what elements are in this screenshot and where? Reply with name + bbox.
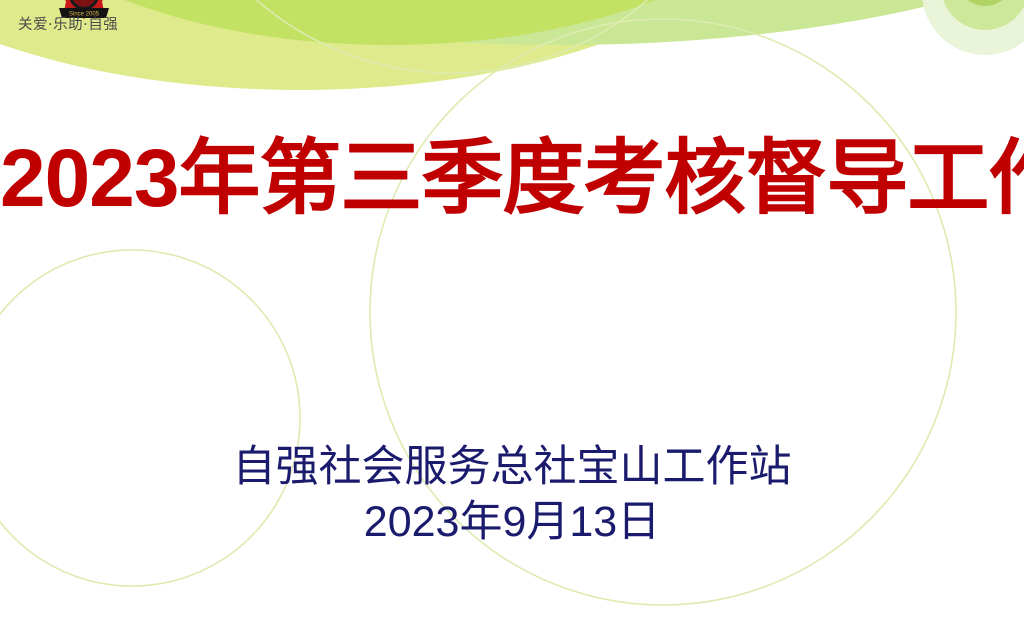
subtitle-date: 2023年9月13日 [0,495,1024,550]
logo-tagline: 关爱·乐助·自强 [18,18,118,33]
decor-circle-top [154,0,750,73]
decor-dot-outer [922,0,1024,55]
subtitle-organization: 自强社会服务总社宝山工作站 [0,440,1024,495]
page-title: 2023年第三季度考核督导工作 [0,134,1024,224]
logo-block: Since 2005 关爱·乐助·自强 [14,0,194,50]
decor-dot-inner [957,0,1013,6]
decor-dot-mid [941,0,1024,30]
presentation-slide: Since 2005 关爱·乐助·自强 2023年第三季度考核督导工作 自强社会… [0,0,1024,640]
subtitle-block: 自强社会服务总社宝山工作站 2023年9月13日 [0,440,1024,550]
